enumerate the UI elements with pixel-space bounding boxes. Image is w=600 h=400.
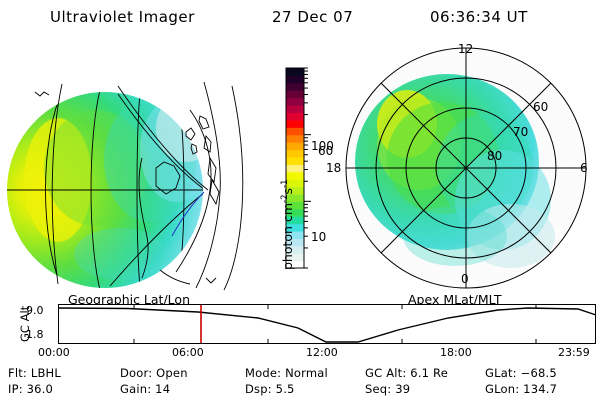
status-field: GLon: 134.7 [485,382,557,396]
colorbar-segment [287,164,304,172]
apex-mlt-label-12: 12 [458,42,473,56]
observation-date: 27 Dec 07 [272,8,353,26]
status-field-value: −68.5 [517,366,557,380]
timeline-xtick-3: 18:00 [440,346,472,359]
geographic-image-panel[interactable] [0,40,265,290]
colorbar-segment [287,149,304,157]
status-field: Mode: Normal [245,366,328,380]
status-field: IP: 36.0 [8,382,53,396]
status-field-key: Flt: [8,366,27,380]
apex-mlt-spokes [346,48,586,288]
timeline-xtick-0: 00:00 [38,346,70,359]
status-field: Door: Open [120,366,188,380]
apex-outer-mlat-label: 60 [318,144,333,158]
colorbar-segment [287,127,304,135]
apex-mlt-label-18: 18 [326,161,341,175]
colorbar-exp-2: -1 [280,180,290,188]
apex-mlt-label-6: 6 [580,161,588,175]
status-field: Gain: 14 [120,382,170,396]
status-field-key: GLat: [485,366,517,380]
colorbar-segment [287,120,304,128]
colorbar-unit-s: s [280,188,295,195]
colorbar-segment [287,75,304,83]
status-field-key: Door: [120,366,152,380]
colorbar-segment [287,83,304,91]
apex-polar-panel[interactable]: 12 6 0 18 60 70 80 [335,40,600,290]
timeline-xtick-2: 12:00 [306,346,338,359]
colorbar-segment [287,112,304,120]
status-field: Flt: LBHL [8,366,61,380]
colorbar-tick-10: 10 [311,230,326,244]
status-field-key: Mode: [245,366,281,380]
timeline-ytick-high: 9.0 [26,304,44,317]
colorbar-segment [287,105,304,113]
status-field: Dsp: 5.5 [245,382,295,396]
status-field-value: 36.0 [23,382,53,396]
colorbar-segment [287,68,304,76]
observation-time: 06:36:34 UT [430,8,528,26]
apex-mlt-label-0: 0 [461,272,469,286]
status-field-value: LBHL [27,366,61,380]
status-field-value: 134.7 [519,382,557,396]
status-field-value: 14 [151,382,170,396]
geographic-aurora-disk [0,40,265,290]
timeline-ytick-low: 1.8 [26,328,44,341]
colorbar-ticks [304,68,311,268]
status-field: GC Alt: 6.1 Re [365,366,448,380]
status-field-key: GC Alt: [365,366,406,380]
status-field-key: Seq: [365,382,391,396]
colorbar-segment [287,172,304,180]
status-field-key: IP: [8,382,23,396]
timeline-xtick-1: 06:00 [172,346,204,359]
colorbar-segment [287,157,304,165]
status-field-value: Open [152,366,187,380]
status-field-value: 5.5 [272,382,295,396]
instrument-title: Ultraviolet Imager [50,8,195,26]
colorbar-segment [287,98,304,106]
colorbar-segment [287,142,304,150]
status-field-key: Dsp: [245,382,272,396]
apex-mlat-label-80: 80 [487,149,502,163]
status-field: Seq: 39 [365,382,410,396]
status-field-value: 6.1 Re [406,366,448,380]
apex-mlat-label-70: 70 [513,125,528,139]
orbit-altitude-plot[interactable] [58,304,596,344]
colorbar-segment [287,135,304,143]
colorbar-segment [287,90,304,98]
status-field: GLat: −68.5 [485,366,557,380]
status-field-key: GLon: [485,382,519,396]
colorbar-unit-photon: photon cm [280,203,295,270]
apex-mlat-label-60: 60 [533,100,548,114]
status-field-value: 39 [391,382,410,396]
timeline-xtick-4: 23:59 [558,346,590,359]
apex-aurora-data [335,40,600,290]
colorbar-exp-1: -2 [280,195,290,203]
timeline-frame [59,305,596,344]
status-field-key: Gain: [120,382,151,396]
status-field-value: Normal [281,366,328,380]
